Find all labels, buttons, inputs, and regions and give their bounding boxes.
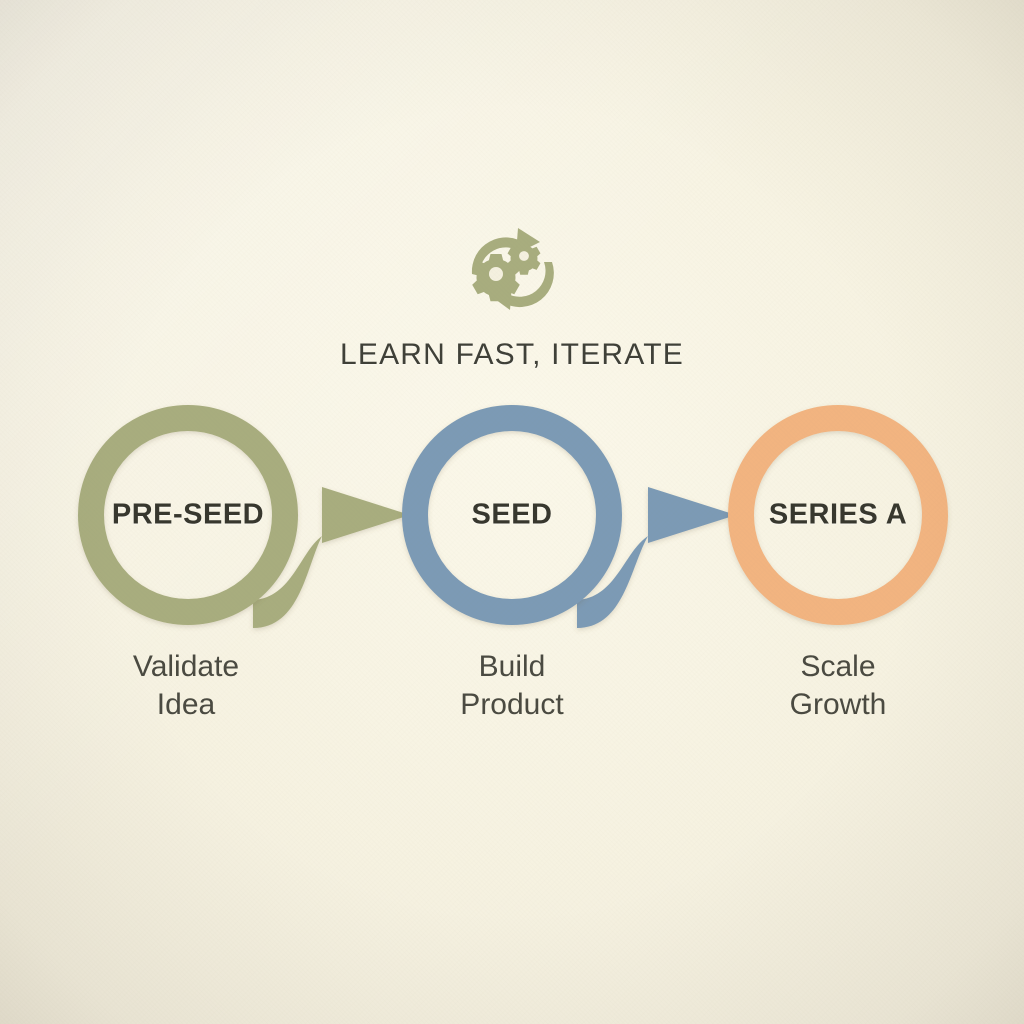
stage-caption-pre-seed-line1: Validate: [133, 648, 239, 686]
diagram-canvas: LEARN FAST, ITERATE PRE-SEED SEED SERIES…: [0, 0, 1024, 1024]
header-title: LEARN FAST, ITERATE: [340, 338, 684, 372]
stage-label-pre-seed: PRE-SEED: [112, 499, 264, 532]
gears-cycle-icon: [460, 222, 564, 314]
stage-caption-series-a: Scale Growth: [790, 648, 887, 724]
stage-caption-seed-line1: Build: [460, 648, 563, 686]
stage-label-series-a: SERIES A: [769, 499, 907, 532]
stage-caption-pre-seed-line2: Idea: [133, 686, 239, 724]
stage-label-seed: SEED: [472, 499, 553, 532]
stage-caption-series-a-line1: Scale: [790, 648, 887, 686]
stage-caption-seed: Build Product: [460, 648, 563, 724]
stage-caption-pre-seed: Validate Idea: [133, 648, 239, 724]
stage-caption-seed-line2: Product: [460, 686, 563, 724]
stage-caption-series-a-line2: Growth: [790, 686, 887, 724]
